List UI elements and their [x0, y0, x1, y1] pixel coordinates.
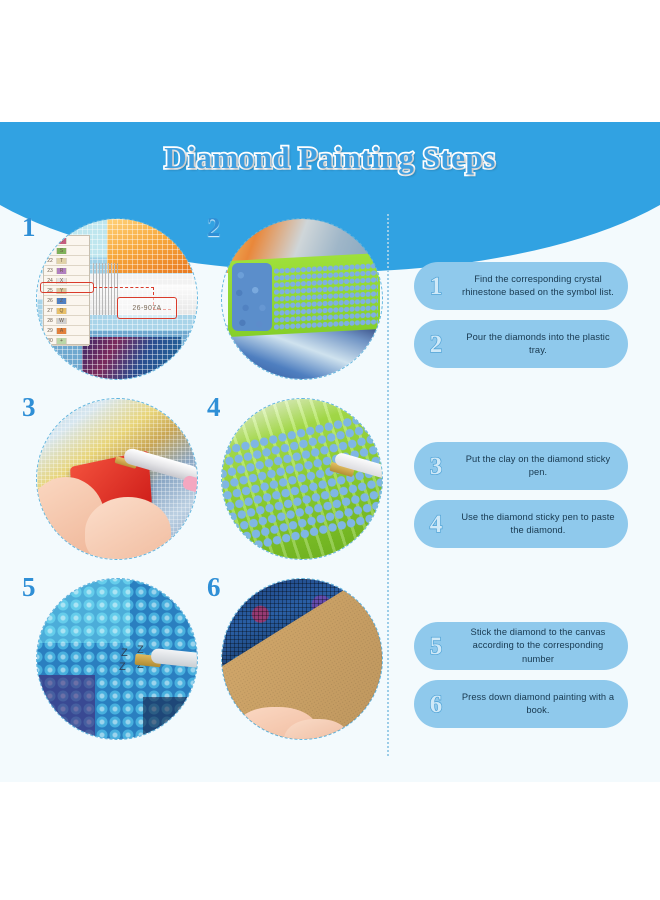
symbol-row-symbol: H — [56, 238, 67, 244]
symbol-row-symbol: R — [56, 268, 67, 274]
photo-circle-6 — [221, 578, 383, 740]
photo-grid: 1 20 H 21 — [0, 210, 390, 770]
symbol-row-symbol: W — [56, 318, 67, 324]
symbol-row-number: 26 — [44, 298, 56, 304]
photo-cell-1: 1 20 H 21 — [14, 210, 199, 395]
photo-cell-2: 2 — [199, 210, 384, 395]
instruction-number-4: 4 — [414, 512, 458, 537]
instruction-text-6: Press down diamond painting with a book. — [458, 691, 628, 718]
photo-cell-4: 4 — [199, 390, 384, 575]
symbol-row-number: 27 — [44, 308, 56, 314]
photo-circle-1: 20 H 21 S 22 T — [36, 218, 198, 380]
instruction-pill-2: 2 Pour the diamonds into the plastic tra… — [414, 320, 628, 368]
instruction-text-5: Stick the diamond to the canvas accordin… — [458, 626, 628, 666]
header-title-wrap: Diamond Painting Steps — [0, 122, 660, 194]
instruction-number-2: 2 — [414, 332, 458, 357]
photo-circle-4 — [221, 398, 383, 560]
symbol-row-symbol: T — [56, 258, 67, 264]
symbol-row: 29 A — [44, 326, 89, 336]
bead-tint-dark — [143, 697, 197, 739]
photo-circle-5: Z Z Z Z — [36, 578, 198, 740]
photo-step-number-6: 6 — [207, 572, 221, 603]
bead-tint-light — [37, 579, 130, 643]
photo-circle-2 — [221, 218, 383, 380]
instruction-number-6: 6 — [414, 692, 458, 717]
symbol-row: 30 + — [44, 336, 89, 346]
photo-1-image: 20 H 21 S 22 T — [37, 219, 197, 379]
photo-6-image — [222, 579, 382, 739]
symbol-row: 27 Q — [44, 306, 89, 316]
symbol-row-symbol: S — [56, 248, 67, 254]
symbol-row-number: 20 — [44, 238, 56, 244]
symbol-row: 23 R — [44, 266, 89, 276]
photo-step-number-3: 3 — [22, 392, 36, 423]
photo-circle-3 — [36, 398, 198, 560]
symbol-row-number: 23 — [44, 268, 56, 274]
symbol-row: 21 S — [44, 246, 89, 256]
finger — [85, 497, 171, 560]
photo-2-image — [222, 219, 382, 379]
photo-cell-3: 3 — [14, 390, 199, 575]
symbol-row-symbol: A — [56, 328, 67, 334]
photo-4-image — [222, 399, 382, 559]
symbol-row: 22 T — [44, 256, 89, 266]
canvas-symbol-z: Z — [121, 647, 128, 659]
loose-diamond-pile — [232, 263, 272, 331]
bead-tint-purple — [37, 675, 95, 739]
highlight-box-symbol-row — [40, 282, 94, 293]
symbol-row-number: 28 — [44, 318, 56, 324]
instruction-number-1: 1 — [414, 274, 458, 299]
instruction-text-1: Find the corresponding crystal rhineston… — [458, 273, 628, 300]
symbol-row-number: 22 — [44, 258, 56, 264]
diamond-rows-in-tray — [274, 262, 378, 333]
instruction-pill-1: 1 Find the corresponding crystal rhinest… — [414, 262, 628, 310]
photo-step-number-2: 2 — [207, 212, 221, 243]
diamond-bag-label: 26-907A — [117, 297, 177, 319]
photo-step-number-4: 4 — [207, 392, 221, 423]
photo-cell-5: 5 Z Z Z Z — [14, 570, 199, 755]
instruction-pill-6: 6 Press down diamond painting with a boo… — [414, 680, 628, 728]
infographic-page: Diamond Painting Steps 1 20 — [0, 0, 660, 900]
symbol-row-highlighted: 26 Z — [44, 296, 89, 306]
photo-5-image: Z Z Z Z — [37, 579, 197, 739]
photo-step-number-5: 5 — [22, 572, 36, 603]
instruction-number-3: 3 — [414, 454, 458, 479]
symbol-row-symbol: + — [56, 338, 67, 344]
instruction-number-5: 5 — [414, 634, 458, 659]
symbol-row-number: 30 — [44, 338, 56, 344]
photo-cell-6: 6 — [199, 570, 384, 755]
symbol-row-symbol: Z — [56, 298, 67, 304]
page-title: Diamond Painting Steps — [164, 140, 495, 176]
photo-3-image — [37, 399, 197, 559]
callout-leader-line — [94, 287, 154, 288]
instruction-text-3: Put the clay on the diamond sticky pen. — [458, 453, 628, 480]
instruction-text-2: Pour the diamonds into the plastic tray. — [458, 331, 628, 358]
symbol-row-symbol: Q — [56, 308, 67, 314]
instruction-pill-3: 3 Put the clay on the diamond sticky pen… — [414, 442, 628, 490]
photo-step-number-1: 1 — [22, 212, 36, 243]
symbol-row-number: 29 — [44, 328, 56, 334]
symbol-row: 20 H — [44, 236, 89, 246]
instruction-pill-4: 4 Use the diamond sticky pen to paste th… — [414, 500, 628, 548]
symbol-row-number: 21 — [44, 248, 56, 254]
instruction-text-4: Use the diamond sticky pen to paste the … — [458, 511, 628, 538]
canvas-comb-lines — [93, 263, 119, 315]
instruction-pill-5: 5 Stick the diamond to the canvas accord… — [414, 622, 628, 670]
symbol-row: 28 W — [44, 316, 89, 326]
canvas-symbol-z: Z — [119, 661, 126, 673]
